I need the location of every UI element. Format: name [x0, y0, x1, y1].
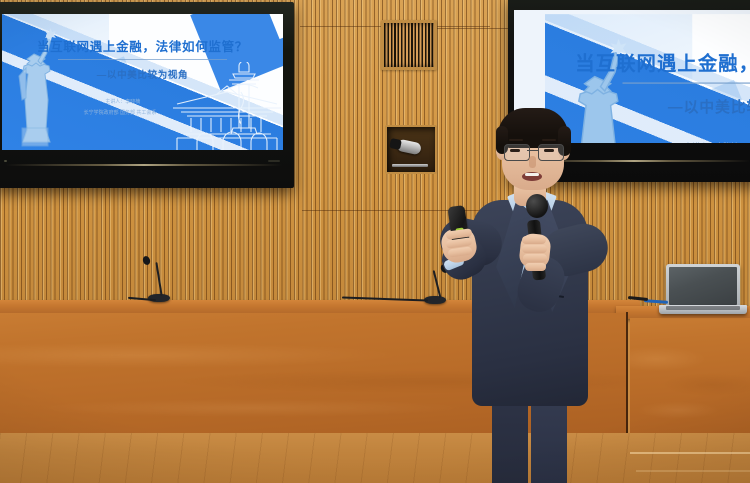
- slide-title: 当互联网遇上金融，法律如何监管？: [572, 47, 750, 76]
- nose: [529, 156, 536, 168]
- bezel-indicator: [4, 160, 7, 162]
- microphone-head-icon: [526, 194, 548, 218]
- floor-trim: [636, 470, 750, 472]
- slide-presenter: 主讲人：李晓楠: [24, 98, 221, 105]
- wall-seam: [435, 28, 515, 29]
- floor-trim: [630, 452, 750, 454]
- left-display-screen: 当互联网遇上金融，法律如何监管？ —以中美比较为视角 主讲人：李晓楠 长宁学院政…: [2, 14, 283, 150]
- floor: [0, 433, 750, 483]
- finger: [523, 254, 547, 262]
- trousers-left: [492, 398, 528, 483]
- slide-divider: [58, 59, 227, 60]
- ventilation-grille-icon: [381, 20, 437, 70]
- slide-affiliation: 长宁学院政府部 国务部 共工会系: [13, 109, 227, 116]
- eye-right: [544, 149, 554, 152]
- eyeglasses-left-lens: [504, 144, 530, 161]
- eyeglasses-right-lens: [538, 144, 564, 161]
- wood-grain: [630, 318, 750, 446]
- eye-left: [510, 149, 520, 152]
- presenter: [434, 108, 634, 483]
- desk-front-right: [630, 318, 750, 446]
- laptop-screen: [669, 267, 737, 305]
- eyebrow-right: [542, 139, 556, 141]
- alcove-shelf: [392, 164, 428, 167]
- finger: [522, 236, 546, 244]
- finger: [525, 263, 546, 271]
- slide-subtitle: —以中美比较为视角: [24, 67, 260, 81]
- eyebrow-left: [509, 139, 523, 141]
- wall-alcove: [385, 125, 437, 174]
- bezel-highlight: [6, 164, 282, 166]
- slide-title: 当互联网遇上金融，法律如何监管？: [22, 36, 264, 55]
- teeth: [525, 173, 539, 176]
- bezel-label: [268, 160, 280, 162]
- camera-lens-icon: [389, 138, 402, 150]
- left-display: 当互联网遇上金融，法律如何监管？ —以中美比较为视角 主讲人：李晓楠 长宁学院政…: [0, 2, 294, 188]
- lecture-room-photo: 当互联网遇上金融，法律如何监管？ —以中美比较为视角 主讲人：李晓楠 长宁学院政…: [0, 0, 750, 483]
- slide-canvas: 当互联网遇上金融，法律如何监管？ —以中美比较为视角 主讲人：李晓楠 长宁学院政…: [2, 14, 283, 150]
- eyeglasses-bridge: [527, 150, 539, 151]
- trousers-right: [531, 398, 567, 483]
- slide-divider: [623, 82, 750, 84]
- finger: [522, 245, 547, 253]
